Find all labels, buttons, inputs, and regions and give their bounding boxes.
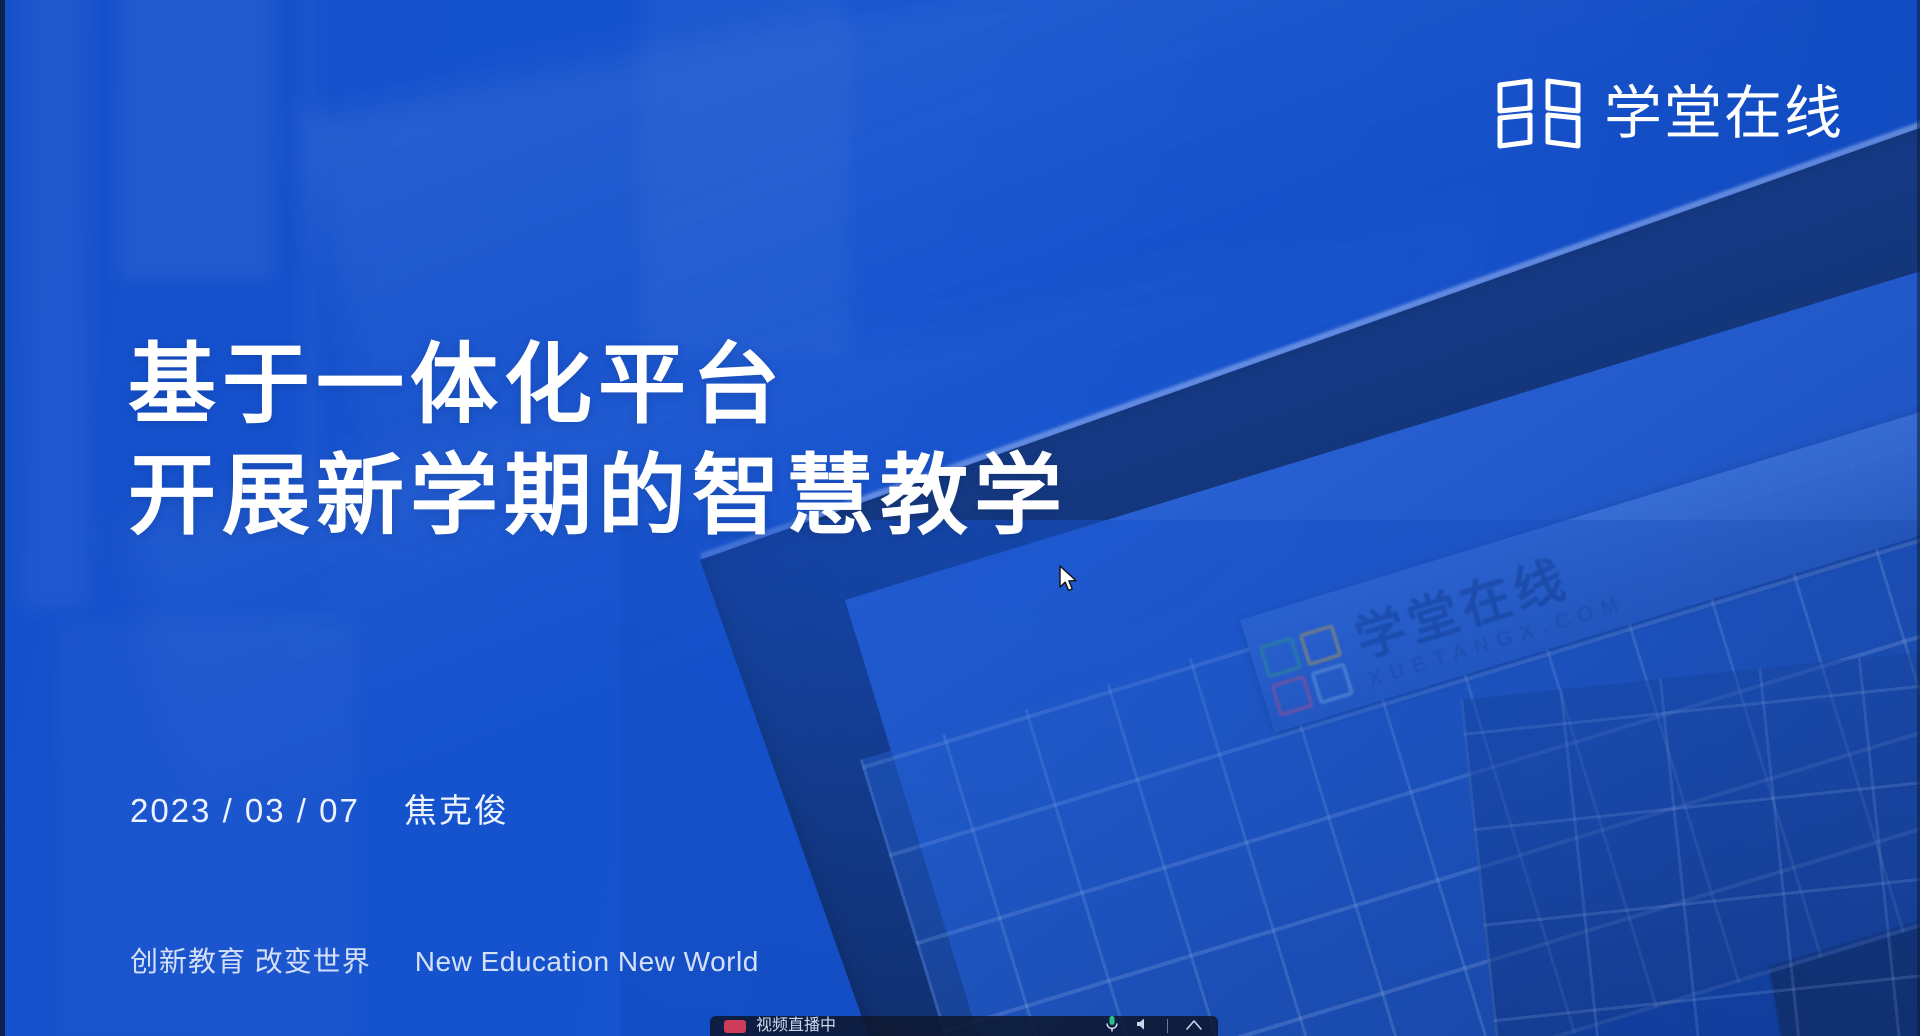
meeting-status: 视频直播中 <box>724 1018 836 1034</box>
meeting-toolbar-controls[interactable] <box>1105 1016 1204 1036</box>
brand-name: 学堂在线 <box>1604 85 1844 143</box>
meeting-toolbar[interactable]: 视频直播中 <box>710 1016 1218 1036</box>
speaker-icon[interactable] <box>1135 1016 1151 1036</box>
slide-meta: 2023 / 03 / 07 焦克俊 <box>130 784 509 832</box>
chevron-up-icon[interactable] <box>1184 1016 1204 1036</box>
microphone-icon[interactable] <box>1105 1016 1119 1036</box>
presentation-date: 2023 / 03 / 07 <box>130 792 360 830</box>
slide-title-line-2: 开展新学期的智慧教学 <box>128 441 1068 552</box>
presentation-slide: 学堂在线 XUETANGX.COM 学堂在线 基于一体化平台 开展新学期的智慧教… <box>0 0 1920 1036</box>
slide-title: 基于一体化平台 开展新学期的智慧教学 <box>128 330 1068 552</box>
slide-tagline: 创新教育 改变世界 New Education New World <box>130 940 759 980</box>
open-book-mark-icon <box>1496 78 1582 150</box>
tagline-cn: 创新教育 改变世界 <box>130 940 371 980</box>
recording-indicator-icon <box>724 1020 746 1033</box>
building-window-grid <box>1460 635 1920 1036</box>
brand-lockup: 学堂在线 <box>1496 78 1844 150</box>
meeting-status-label: 视频直播中 <box>756 1018 836 1034</box>
toolbar-divider <box>1167 1019 1168 1033</box>
presenter-name: 焦克俊 <box>404 784 509 832</box>
slide-title-line-1: 基于一体化平台 <box>128 330 1068 441</box>
slide-left-edge <box>0 0 5 1036</box>
tagline-en: New Education New World <box>415 946 759 978</box>
